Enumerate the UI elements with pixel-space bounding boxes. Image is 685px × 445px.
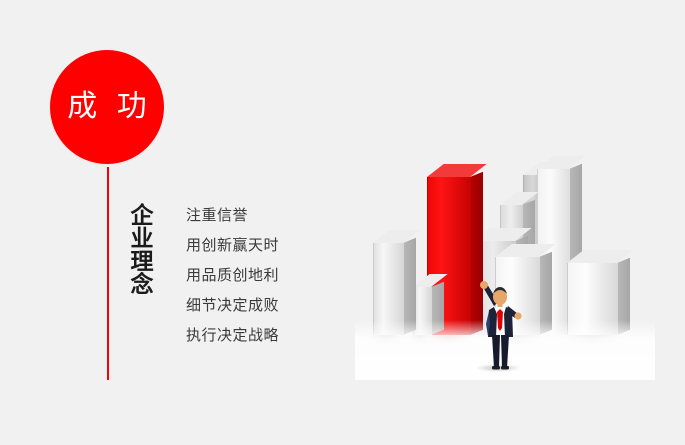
success-badge-label: 成 功	[62, 92, 152, 122]
celebrating-businessman-figure	[470, 262, 532, 370]
list-item: 执行决定战略	[186, 320, 279, 350]
jacket-right	[504, 307, 513, 337]
red-divider-rule	[107, 167, 109, 380]
list-item: 注重信誉	[186, 200, 279, 230]
poster-canvas: 成 功 企业理念 注重信誉 用创新赢天时 用品质创地利 细节决定成败 执行决定战…	[0, 0, 685, 445]
right-hand	[514, 312, 521, 319]
businessman-illustration	[470, 262, 532, 370]
raised-fist	[480, 281, 488, 289]
figure-contact-shadow	[476, 364, 520, 372]
list-item: 用品质创地利	[186, 260, 279, 290]
bar-chart-illustration	[355, 150, 655, 380]
success-badge: 成 功	[50, 50, 164, 164]
section-heading-vertical: 企业理念	[127, 203, 155, 295]
philosophy-list: 注重信誉 用创新赢天时 用品质创地利 细节决定成败 执行决定战略	[186, 200, 279, 350]
list-item: 用创新赢天时	[186, 230, 279, 260]
list-item: 细节决定成败	[186, 290, 279, 320]
